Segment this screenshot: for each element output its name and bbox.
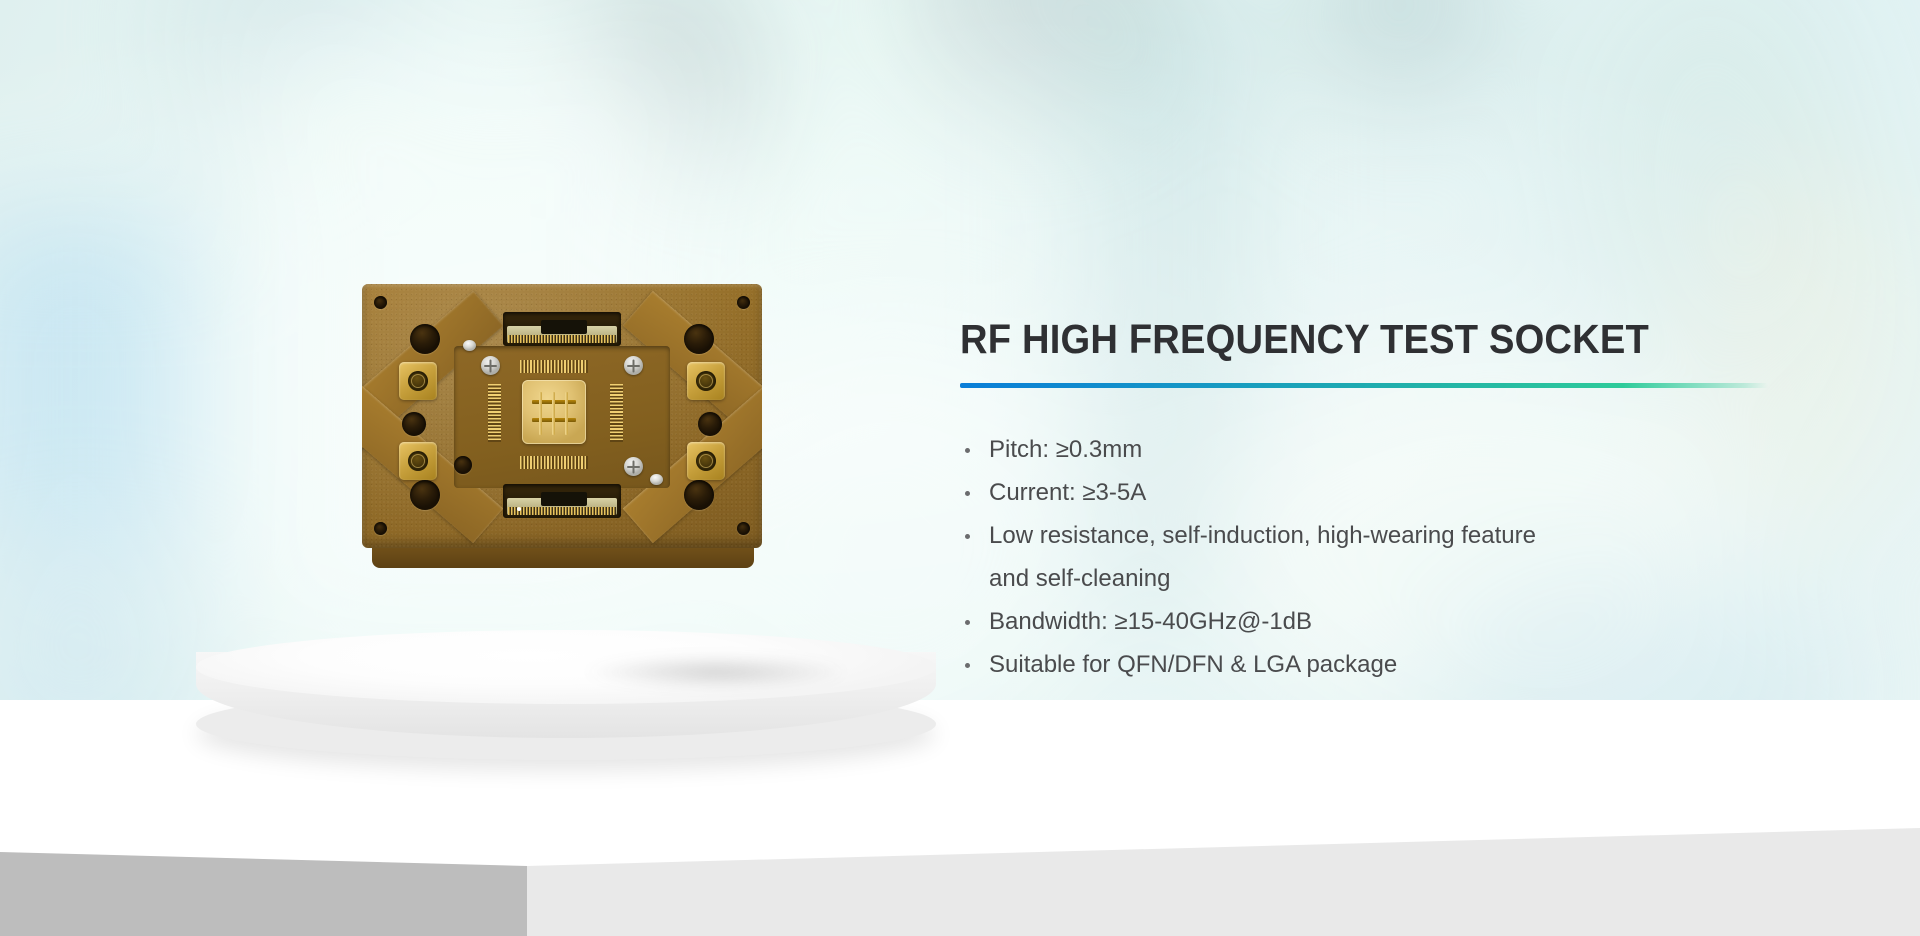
product-info-panel: RF HIGH FREQUENCY TEST SOCKET Pitch: ≥0.… xyxy=(960,318,1840,686)
list-item: Current: ≥3-5A xyxy=(960,471,1549,514)
page-title: RF HIGH FREQUENCY TEST SOCKET xyxy=(960,318,1778,361)
list-item: Suitable for QFN/DFN & LGA package xyxy=(960,643,1549,686)
list-item: Low resistance, self-induction, high-wea… xyxy=(960,514,1549,600)
list-item: Bandwidth: ≥15-40GHz@-1dB xyxy=(960,600,1549,643)
product-image-rf-test-socket xyxy=(362,284,762,640)
title-divider xyxy=(960,383,1768,388)
socket-contact-pad xyxy=(522,380,586,444)
list-item: Pitch: ≥0.3mm xyxy=(960,428,1549,471)
product-banner: RF HIGH FREQUENCY TEST SOCKET Pitch: ≥0.… xyxy=(0,0,1920,936)
specs-list: Pitch: ≥0.3mm Current: ≥3-5A Low resista… xyxy=(960,428,1840,686)
product-pedestal xyxy=(196,630,936,760)
